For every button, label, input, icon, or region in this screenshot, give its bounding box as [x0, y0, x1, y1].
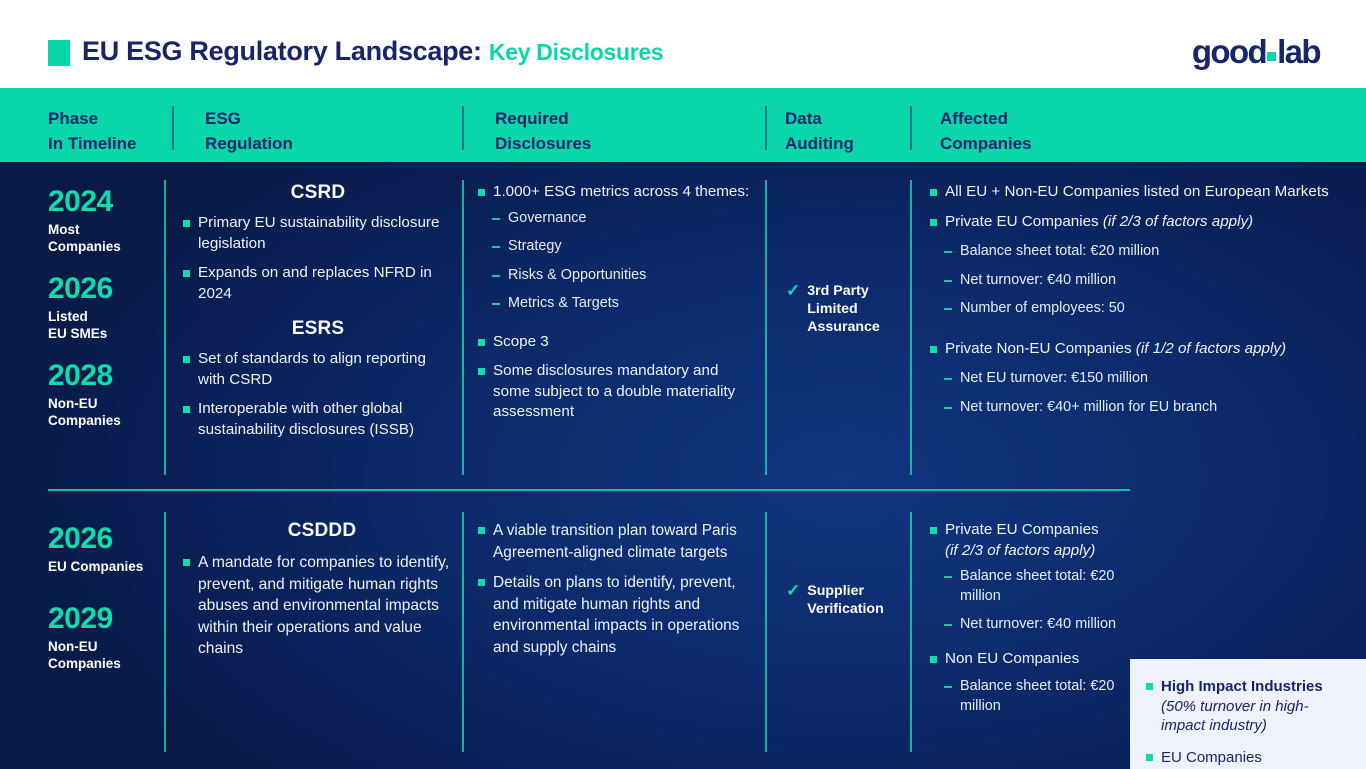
sub-list-item: Risks & Opportunities [492, 266, 753, 286]
row2-divider-3 [765, 512, 767, 752]
row1-regulation-cell: CSRD Primary EU sustainability disclosur… [183, 182, 453, 449]
sub-list-item: Net turnover: €40 million [944, 271, 1358, 291]
list-item: A mandate for companies to identify, pre… [183, 552, 461, 660]
list-item: All EU + Non-EU Companies listed on Euro… [930, 182, 1358, 203]
row1-divider-1 [164, 180, 166, 475]
row2-disclosures-cell: A viable transition plan toward Paris Ag… [478, 520, 758, 667]
list-item: Expands on and replaces NFRD in 2024 [183, 263, 453, 304]
row1-divider-3 [765, 180, 767, 475]
list-item-main: Private Non-EU Companies [945, 340, 1136, 357]
page-title: EU ESG Regulatory Landscape: Key Disclos… [82, 36, 663, 67]
sub-list-item: Net turnover: €40 million [944, 615, 1130, 635]
column-header-regulation: ESG Regulation [205, 106, 293, 156]
row1-divider-2 [462, 180, 464, 475]
title-accent-square [48, 40, 70, 66]
logo-dot-icon [1267, 52, 1276, 61]
sub-list-item: Strategy [492, 237, 753, 257]
affected-bullet-list: All EU + Non-EU Companies listed on Euro… [930, 182, 1358, 417]
column-header-auditing: Data Auditing [785, 106, 854, 156]
logo-text-left: good [1192, 33, 1266, 70]
timeline-subtitle: Non-EU Companies [48, 395, 121, 429]
header-divider-1 [172, 106, 174, 150]
header-divider-2 [462, 106, 464, 150]
list-item: Some disclosures mandatory and some subj… [478, 361, 753, 423]
list-item: Details on plans to identify, prevent, a… [478, 572, 758, 658]
row1-affected-cell: All EU + Non-EU Companies listed on Euro… [930, 182, 1358, 426]
row2-affected-cell: Private EU Companies(if 2/3 of factors a… [930, 520, 1130, 725]
timeline-year: 2026 [48, 272, 113, 306]
list-item: Primary EU sustainability disclosure leg… [183, 213, 453, 254]
sub-list-item: Balance sheet total: €20 million [944, 242, 1358, 262]
row2-disclosures-bullet-list: A viable transition plan toward Paris Ag… [478, 520, 758, 658]
esrs-bullet-list: Set of standards to align reporting with… [183, 349, 453, 440]
list-item: Private Non-EU Companies (if 1/2 of fact… [930, 339, 1358, 360]
title-bar: EU ESG Regulatory Landscape: Key Disclos… [0, 0, 1366, 88]
list-item-note: (if 1/2 of factors apply) [1136, 340, 1286, 357]
row2-timeline-item-2026: 2026 EU Companies [48, 522, 143, 575]
row-separator [48, 489, 1130, 491]
panel-heading-note: (50% turnover in high-impact industry) [1161, 697, 1352, 736]
timeline-year: 2024 [48, 185, 121, 219]
row1-timeline-item-2028: 2028 Non-EU Companies [48, 359, 121, 429]
list-item: Private EU Companies(if 2/3 of factors a… [930, 520, 1130, 561]
sub-list-item: Net EU turnover: €150 million [944, 369, 1358, 389]
timeline-year: 2028 [48, 359, 121, 393]
auditing-label: 3rd Party Limited Assurance [807, 282, 880, 336]
timeline-subtitle: EU Companies [48, 558, 143, 575]
sub-list-item: Balance sheet total: €20 million [944, 677, 1130, 716]
list-item: Private EU Companies (if 2/3 of factors … [930, 212, 1358, 233]
infographic-page: EU ESG Regulatory Landscape: Key Disclos… [0, 0, 1366, 769]
row2-auditing-cell: ✓ Supplier Verification [786, 582, 906, 618]
row1-timeline-item-2024: 2024 Most Companies [48, 185, 121, 255]
page-title-accent: Key Disclosures [489, 39, 663, 65]
csrd-bullet-list: Primary EU sustainability disclosure leg… [183, 213, 453, 304]
column-header-affected: Affected Companies [940, 106, 1032, 156]
list-item: Set of standards to align reporting with… [183, 349, 453, 390]
goodlab-logo: goodlab [1192, 33, 1320, 71]
row1-divider-4 [910, 180, 912, 475]
sub-list-item: Number of employees: 50 [944, 299, 1358, 319]
check-icon: ✓ [786, 582, 800, 600]
list-item: Non EU Companies [930, 649, 1130, 670]
auditing-label: Supplier Verification [807, 582, 883, 618]
table-header-row: Phase In Timeline ESG Regulation Require… [0, 88, 1366, 162]
list-item: High Impact Industries (50% turnover in … [1146, 677, 1352, 736]
list-item-main: Private EU Companies [945, 213, 1103, 230]
header-divider-3 [765, 106, 767, 150]
list-item: EU Companies [1146, 748, 1352, 768]
list-item: A viable transition plan toward Paris Ag… [478, 520, 758, 563]
row2-regulation-cell: CSDDD A mandate for companies to identif… [183, 520, 461, 669]
timeline-subtitle: Listed EU SMEs [48, 308, 113, 342]
list-item: Interoperable with other global sustaina… [183, 399, 453, 440]
timeline-subtitle: Most Companies [48, 221, 121, 255]
logo-text-right: lab [1277, 33, 1320, 70]
list-item-note: (if 2/3 of factors apply) [1103, 213, 1253, 230]
page-title-main: EU ESG Regulatory Landscape: [82, 36, 482, 66]
panel-heading: High Impact Industries [1161, 678, 1323, 695]
list-item-main: Private EU Companies [945, 521, 1099, 538]
disclosures-bullet-list: 1.000+ ESG metrics across 4 themes: Gove… [478, 182, 753, 423]
row2-divider-1 [164, 512, 166, 752]
row1-disclosures-cell: 1.000+ ESG metrics across 4 themes: Gove… [478, 182, 753, 432]
list-item: 1.000+ ESG metrics across 4 themes: [478, 182, 753, 203]
sub-list-item: Metrics & Targets [492, 294, 753, 314]
regulation-title-csddd: CSDDD [183, 520, 461, 542]
sub-list-item: Governance [492, 209, 753, 229]
row2-divider-4 [910, 512, 912, 752]
row1-timeline-item-2026: 2026 Listed EU SMEs [48, 272, 113, 342]
sub-list-item: Balance sheet total: €20 million [944, 567, 1130, 606]
list-item: Scope 3 [478, 332, 753, 353]
table-body: 2024 Most Companies 2026 Listed EU SMEs … [0, 162, 1366, 769]
high-impact-industries-panel: High Impact Industries (50% turnover in … [1130, 659, 1366, 769]
column-header-disclosures: Required Disclosures [495, 106, 591, 156]
row2-divider-2 [462, 512, 464, 752]
panel-bullet-list: High Impact Industries (50% turnover in … [1146, 677, 1352, 769]
header-divider-4 [910, 106, 912, 150]
row2-timeline-item-2029: 2029 Non-EU Companies [48, 602, 121, 672]
timeline-year: 2029 [48, 602, 121, 636]
column-header-phase: Phase In Timeline [48, 106, 137, 156]
check-icon: ✓ [786, 282, 800, 300]
sub-list-item: Net turnover: €40+ million for EU branch [944, 398, 1358, 418]
regulation-title-csrd: CSRD [183, 182, 453, 204]
timeline-subtitle: Non-EU Companies [48, 638, 121, 672]
regulation-title-esrs: ESRS [183, 318, 453, 340]
list-item-note: (if 2/3 of factors apply) [945, 542, 1095, 559]
csddd-bullet-list: A mandate for companies to identify, pre… [183, 552, 461, 660]
timeline-year: 2026 [48, 522, 143, 556]
row1-auditing-cell: ✓ 3rd Party Limited Assurance [786, 282, 906, 336]
row2-affected-bullet-list: Private EU Companies(if 2/3 of factors a… [930, 520, 1130, 716]
